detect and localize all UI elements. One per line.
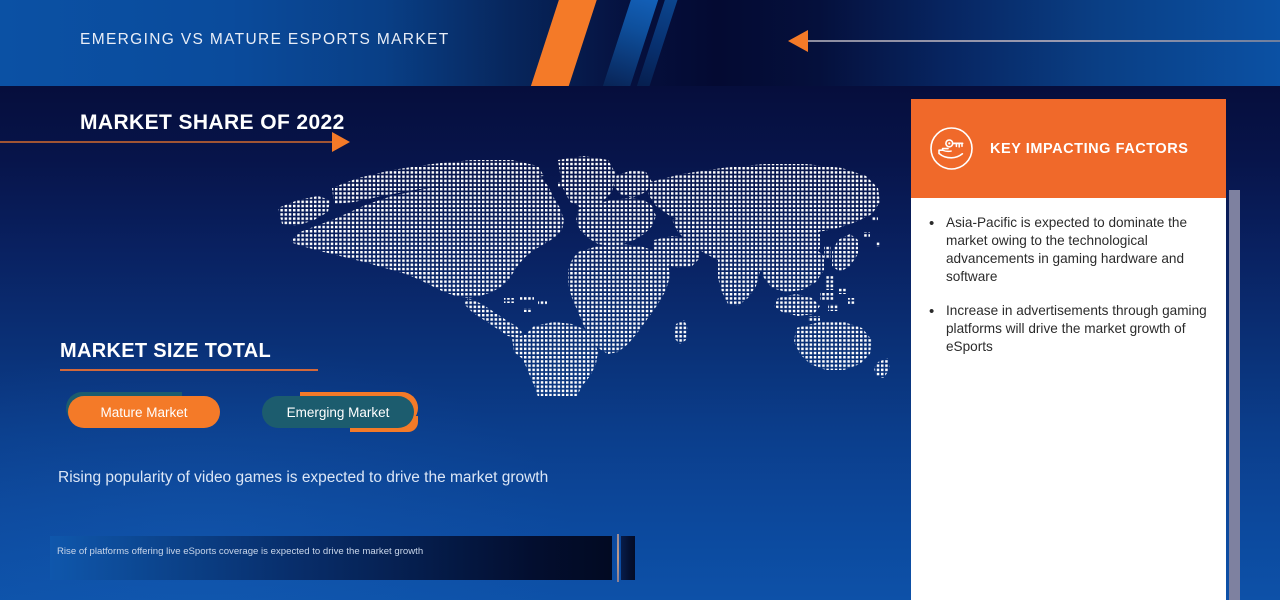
bottom-bar-divider: [617, 534, 619, 582]
bottom-bar-secondary: [621, 536, 635, 580]
bullet-text: Increase in advertisements through gamin…: [946, 302, 1208, 356]
market-size-underline: [60, 369, 318, 371]
panel-header: KEY IMPACTING FACTORS: [911, 99, 1226, 198]
list-item: • Asia-Pacific is expected to dominate t…: [929, 214, 1208, 286]
bullet-text: Asia-Pacific is expected to dominate the…: [946, 214, 1208, 286]
hand-holding-key-icon: [929, 126, 974, 171]
list-item: • Increase in advertisements through gam…: [929, 302, 1208, 356]
header-band: EMERGING VS MATURE ESPORTS MARKET: [0, 0, 1280, 86]
panel-body: • Asia-Pacific is expected to dominate t…: [911, 198, 1226, 373]
diagonal-stripe-orange: [523, 0, 601, 86]
arrow-left-icon: [788, 30, 808, 52]
key-impacting-factors-panel: KEY IMPACTING FACTORS • Asia-Pacific is …: [911, 99, 1226, 600]
header-arrow-line: [808, 40, 1280, 42]
market-share-title: MARKET SHARE OF 2022: [80, 111, 345, 135]
legend-pill-mature-market[interactable]: Mature Market: [68, 396, 220, 428]
panel-shadow: [1229, 190, 1240, 600]
market-share-arrow-line: [0, 141, 335, 143]
bullet-icon: •: [929, 302, 946, 356]
bottom-bar-text: Rise of platforms offering live eSports …: [57, 546, 597, 558]
legend-pill-emerging-market[interactable]: Emerging Market: [262, 396, 414, 428]
bullet-icon: •: [929, 214, 946, 286]
page-title: EMERGING VS MATURE ESPORTS MARKET: [80, 31, 450, 49]
market-size-title: MARKET SIZE TOTAL: [60, 340, 271, 363]
panel-header-title: KEY IMPACTING FACTORS: [990, 141, 1188, 157]
infographic-stage: EMERGING VS MATURE ESPORTS MARKET MARKET…: [0, 0, 1280, 600]
body-copy-text: Rising popularity of video games is expe…: [58, 468, 588, 488]
world-map-dotted: [272, 146, 892, 396]
